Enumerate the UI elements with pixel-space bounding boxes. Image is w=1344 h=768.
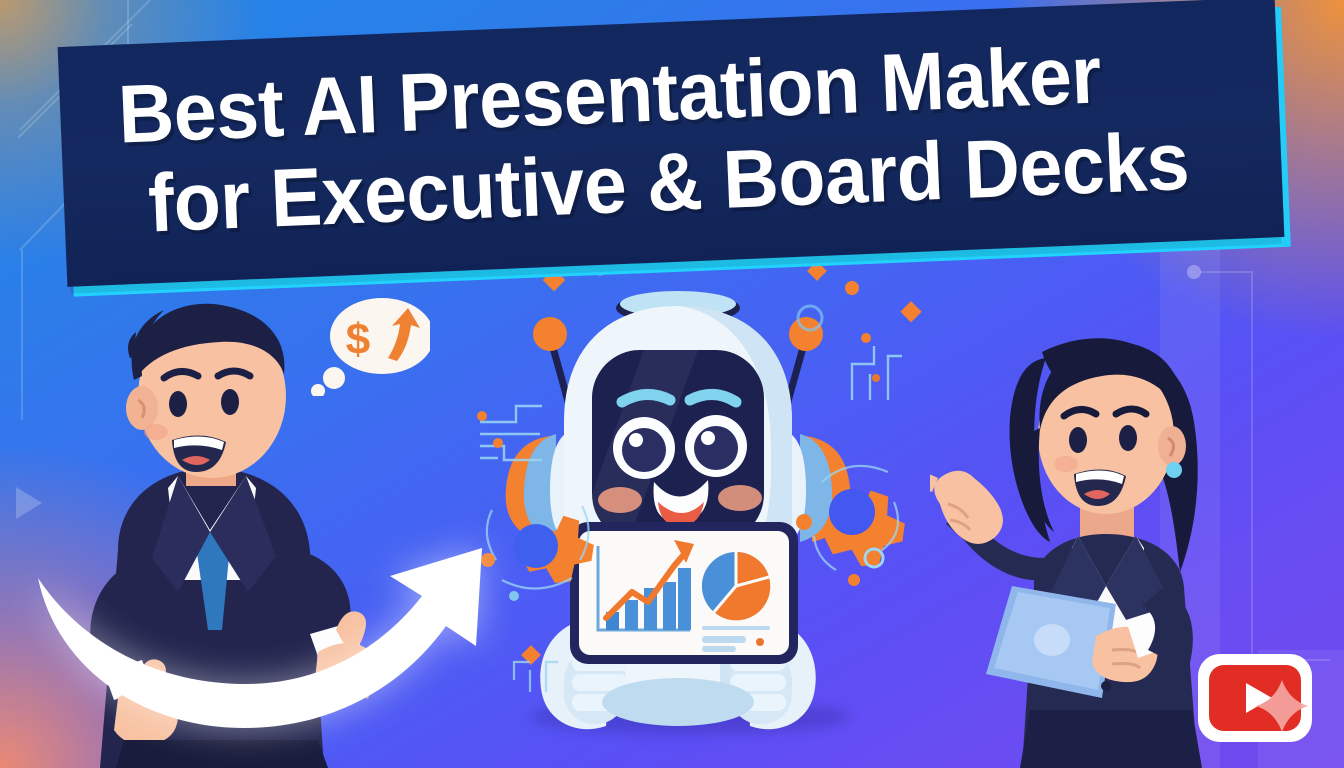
growth-arrow (30, 540, 530, 768)
tech-decor-right (792, 290, 942, 620)
money-growth-thought-bubble: $ (310, 296, 430, 388)
youtube-play-badge[interactable] (1196, 650, 1314, 746)
title-banner: Best AI Presentation Maker for Executive… (62, 22, 1280, 262)
robot-tablet (570, 522, 798, 664)
tablet-pie-chart (702, 552, 770, 620)
banner-text-block: Best AI Presentation Maker for Executive… (58, 0, 1285, 287)
earring (1166, 462, 1182, 478)
thumbnail-canvas: $ (0, 0, 1344, 768)
pointing-hand (930, 464, 1003, 544)
dollar-icon: $ (346, 315, 370, 364)
play-marker-left (16, 487, 42, 519)
